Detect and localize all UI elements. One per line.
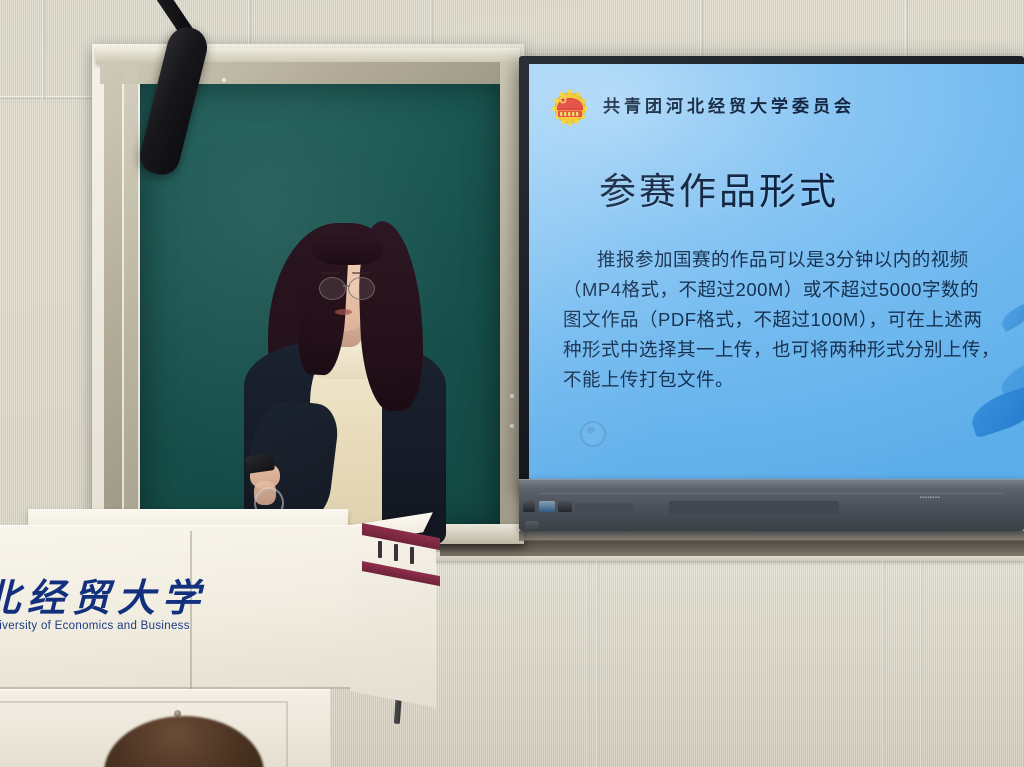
blackboard-mount-screw (510, 394, 514, 398)
presenter-glasses-left-lens (319, 277, 346, 300)
display-bottom-bezel: ▪▪▪▪▪▪▪▪ (519, 479, 1024, 531)
blackboard-rail-left (104, 62, 122, 532)
display-speaker-grille (669, 501, 839, 515)
wall-seam (882, 560, 885, 767)
slide-watermark-icon (580, 421, 606, 447)
slide-body-line: 图文作品（PDF格式，不超过100M），可在上述两 (563, 305, 1000, 335)
slide-body-line: 推报参加国赛的作品可以是3分钟以内的视频 (563, 245, 1000, 275)
slide-body-line: 不能上传打包文件。 (563, 365, 1000, 395)
interactive-display-screen[interactable]: 共青团河北经贸大学委员会 参赛作品形式 推报参加国赛的作品可以是3分钟以内的视频… (529, 64, 1024, 479)
slide-body-text: 推报参加国赛的作品可以是3分钟以内的视频 （MP4格式，不超过200M）或不超过… (563, 245, 1000, 395)
slide-watermark-detail-icon (587, 427, 595, 433)
lectern-base-seam (286, 701, 288, 767)
slide-organization-line: 共青团河北经贸大学委员会 (603, 92, 855, 117)
wall-seam (700, 0, 703, 64)
presentation-slide: 共青团河北经贸大学委员会 参赛作品形式 推报参加国赛的作品可以是3分钟以内的视频… (529, 64, 1024, 479)
blackboard-mount-screw (510, 424, 514, 428)
display-speaker-grille (575, 503, 633, 513)
shadow-gap (440, 540, 1024, 556)
presenter (228, 215, 458, 545)
slide-title: 参赛作品形式 (599, 161, 839, 215)
display-control-button[interactable] (558, 501, 572, 512)
blackboard-rail-left-inner (124, 66, 138, 528)
presenter-glasses-right-lens (348, 277, 375, 300)
presenter-glasses-bridge (343, 285, 350, 287)
lectern-university-logo-chinese: 北经贸大学 (0, 567, 207, 622)
wall-seam (586, 560, 589, 767)
display-brand-label: ▪▪▪▪▪▪▪▪ (920, 495, 940, 501)
wall-seam (920, 560, 923, 767)
lectern-side-panel (350, 527, 436, 708)
swoosh-decoration-icon (996, 352, 1024, 398)
bezel-seam (539, 493, 1004, 494)
presenter-mouth (335, 309, 352, 315)
display-power-button[interactable] (523, 501, 535, 512)
lectern-vent-slot (378, 541, 382, 558)
presenter-hair-top (312, 231, 382, 265)
display-shadow (519, 531, 1024, 541)
lectern-university-logo-english: University of Economics and Business (0, 620, 190, 632)
wall-seam (596, 560, 599, 767)
communist-youth-league-emblem-icon (550, 86, 590, 126)
swoosh-decoration-icon (998, 304, 1024, 333)
blackboard-mount-screw (222, 78, 226, 82)
presenter-brow (352, 272, 370, 274)
presentation-photo-scene: 共青团河北经贸大学委员会 参赛作品形式 推报参加国赛的作品可以是3分钟以内的视频… (0, 0, 1024, 767)
slide-body-line: （MP4格式，不超过200M）或不超过5000字数的 (563, 275, 1000, 305)
display-control-button[interactable] (539, 501, 555, 512)
wall-seam (42, 0, 45, 100)
slide-body-line: 种形式中选择其一上传，也可将两种形式分别上传， (563, 335, 1000, 365)
lectern-vent-slot (410, 547, 414, 564)
lectern-vent-slot (394, 544, 398, 561)
lectern-base-seam (0, 701, 286, 703)
display-mount-foot (525, 521, 539, 531)
presenter-brow (322, 272, 340, 274)
